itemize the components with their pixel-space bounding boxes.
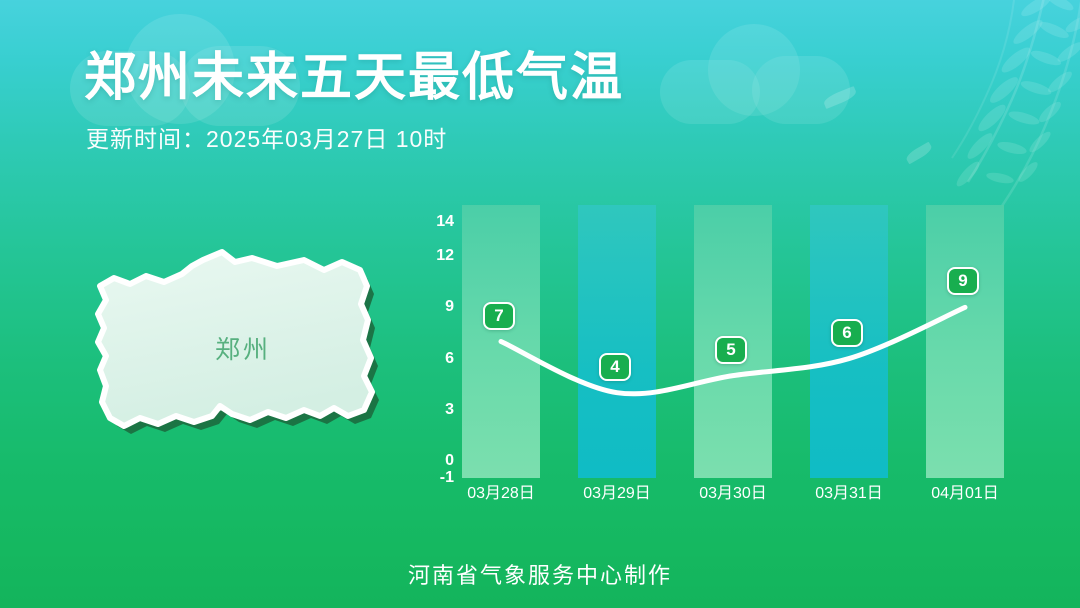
y-axis-tick-14: 14 [436,214,454,230]
map-region-label: 郑州 [215,330,271,366]
temperature-line [462,205,1042,495]
x-axis-label-2: 03月29日 [562,486,672,502]
x-axis-label-3: 03月30日 [678,486,788,502]
data-point-badge-3: 5 [715,336,747,364]
y-axis-tick-3: 3 [445,402,454,418]
x-axis-label-1: 03月28日 [446,486,556,502]
y-axis-tick-6: 6 [445,351,454,367]
y-axis-tick-9: 9 [445,299,454,315]
zhengzhou-map [72,240,417,492]
x-axis-label-5: 04月01日 [910,486,1020,502]
data-point-badge-5: 9 [947,267,979,295]
x-axis-label-4: 03月31日 [794,486,904,502]
y-axis-tick-12: 12 [436,248,454,264]
y-axis: 14129630-1 [420,205,454,495]
update-time-label: 更新时间：2025年03月27日 10时 [86,128,447,151]
footer-credit: 河南省气象服务中心制作 [0,558,1080,590]
cloud-icon-right [660,24,850,124]
temperature-chart: 14129630-1 03月28日03月29日03月30日03月31日04月01… [420,205,1050,515]
page-title: 郑州未来五天最低气温 [84,52,624,104]
y-axis-tick-0: 0 [445,453,454,469]
data-point-badge-2: 4 [599,353,631,381]
data-point-badge-4: 6 [831,319,863,347]
y-axis-tick--1: -1 [440,470,454,486]
weather-infographic: 郑州未来五天最低气温 更新时间：2025年03月27日 10时 郑州 14129… [0,0,1080,608]
data-point-badge-1: 7 [483,302,515,330]
willow-branch-icon [850,0,1080,216]
